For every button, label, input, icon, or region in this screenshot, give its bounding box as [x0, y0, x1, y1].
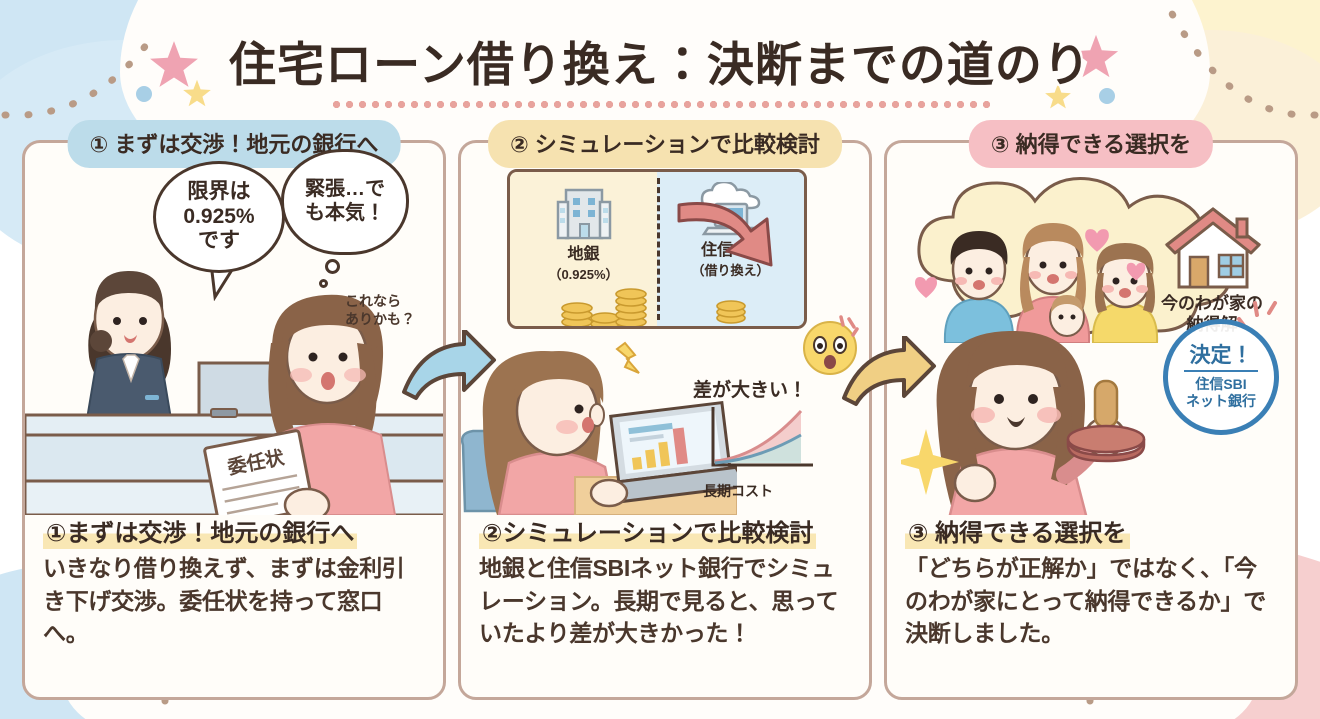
heart-icon-right: [1125, 261, 1147, 283]
comparison-left-rate: （0.925%）: [548, 264, 618, 283]
mini-note-this-could-work: これなら ありかも？: [345, 293, 415, 328]
panel-2-caption: ②シミュレーションで比較検討 地銀と住信SBIネット銀行でシミュレーション。長期…: [461, 515, 869, 660]
long-term-cost-chart-icon: [697, 401, 819, 481]
comparison-left-label: 地銀: [567, 246, 599, 264]
office-building-icon: [553, 182, 615, 244]
bubble-customer-tail-dot-1: [325, 259, 340, 274]
long-term-cost-label: 長期コスト: [703, 481, 773, 501]
panel-3-caption: ③ 納得できる選択を 「どちらが正解か」ではなく、「今のわが家にとって納得できる…: [887, 515, 1295, 660]
page-title: 住宅ローン借り換え：決断までの道のり: [229, 26, 1091, 95]
panel-step-2[interactable]: ② シミュレーションで比較検討: [458, 140, 872, 700]
panel-row: ① まずは交渉！地元の銀行へ: [22, 140, 1298, 700]
panel-1-caption-title: ①まずは交渉！地元の銀行へ: [43, 519, 357, 549]
comparison-left-local-bank: 地銀 （0.925%）: [510, 172, 657, 326]
title-underline: [330, 101, 990, 108]
coin-stack-small-icon: [711, 296, 751, 324]
panel-3-caption-title: ③ 納得できる選択を: [905, 519, 1130, 549]
bubble-teller-speech: 限界は 0.925% です: [153, 161, 285, 273]
heart-icon-left: [913, 275, 939, 301]
panel-1-illustration: 委任状 限界は 0.925% です: [25, 143, 443, 515]
page-title-wrapper: 住宅ローン借り換え：決断までの道のり: [0, 26, 1320, 108]
bubble-teller-text: 限界は 0.925% です: [183, 180, 254, 254]
comparison-divider: [657, 178, 660, 320]
panel-2-illustration: 地銀 （0.925%）: [461, 143, 869, 515]
panel-3-illustration: 今のわが家の 納得解: [887, 143, 1295, 515]
bubble-customer-text: 緊張…で も本気！: [305, 178, 385, 225]
heart-icon-mid: [1083, 227, 1111, 255]
panel-3-caption-body: 「どちらが正解か」ではなく、「今のわが家にとって納得できるか」で決断しました。: [905, 552, 1279, 650]
panel-2-caption-title: ②シミュレーションで比較検討: [479, 519, 816, 549]
arrow-panel2-to-panel3-icon: [838, 336, 938, 420]
coin-stacks-large-icon: [555, 282, 655, 328]
woman-at-laptop-icon: [461, 315, 737, 515]
house-icon: [1163, 203, 1263, 295]
panel-2-caption-body: 地銀と住信SBIネット銀行でシミュレーション。長期で見ると、思っていたより差が大…: [479, 552, 853, 650]
diff-is-large-label: 差が大きい！: [693, 375, 807, 402]
infographic-canvas: 住宅ローン借り換え：決断までの道のり ① まずは交渉！地元の銀行へ: [0, 0, 1320, 719]
stamp-bank-name: 住信SBI ネット銀行: [1186, 372, 1256, 408]
panel-step-3[interactable]: ③ 納得できる選択を: [884, 140, 1298, 700]
stamp-decision-label: 決定！: [1184, 345, 1258, 372]
red-diff-arrow-icon: [675, 191, 785, 283]
panel-1-caption-body: いきなり借り換えず、まずは金利引き下げ交渉。委任状を持って窓口へ。: [43, 552, 427, 650]
arrow-panel1-to-panel2-icon: [398, 330, 498, 414]
bubble-customer-tail-dot-2: [319, 279, 328, 288]
panel-1-caption: ①まずは交渉！地元の銀行へ いきなり借り換えず、まずは金利引き下げ交渉。委任状を…: [25, 515, 443, 660]
bubble-customer-thought: 緊張…で も本気！: [281, 149, 409, 255]
decision-stamp-badge: 決定！ 住信SBI ネット銀行: [1163, 319, 1279, 435]
panel-2-badge: ② シミュレーションで比較検討: [488, 120, 842, 168]
panel-step-1[interactable]: ① まずは交渉！地元の銀行へ: [22, 140, 446, 700]
